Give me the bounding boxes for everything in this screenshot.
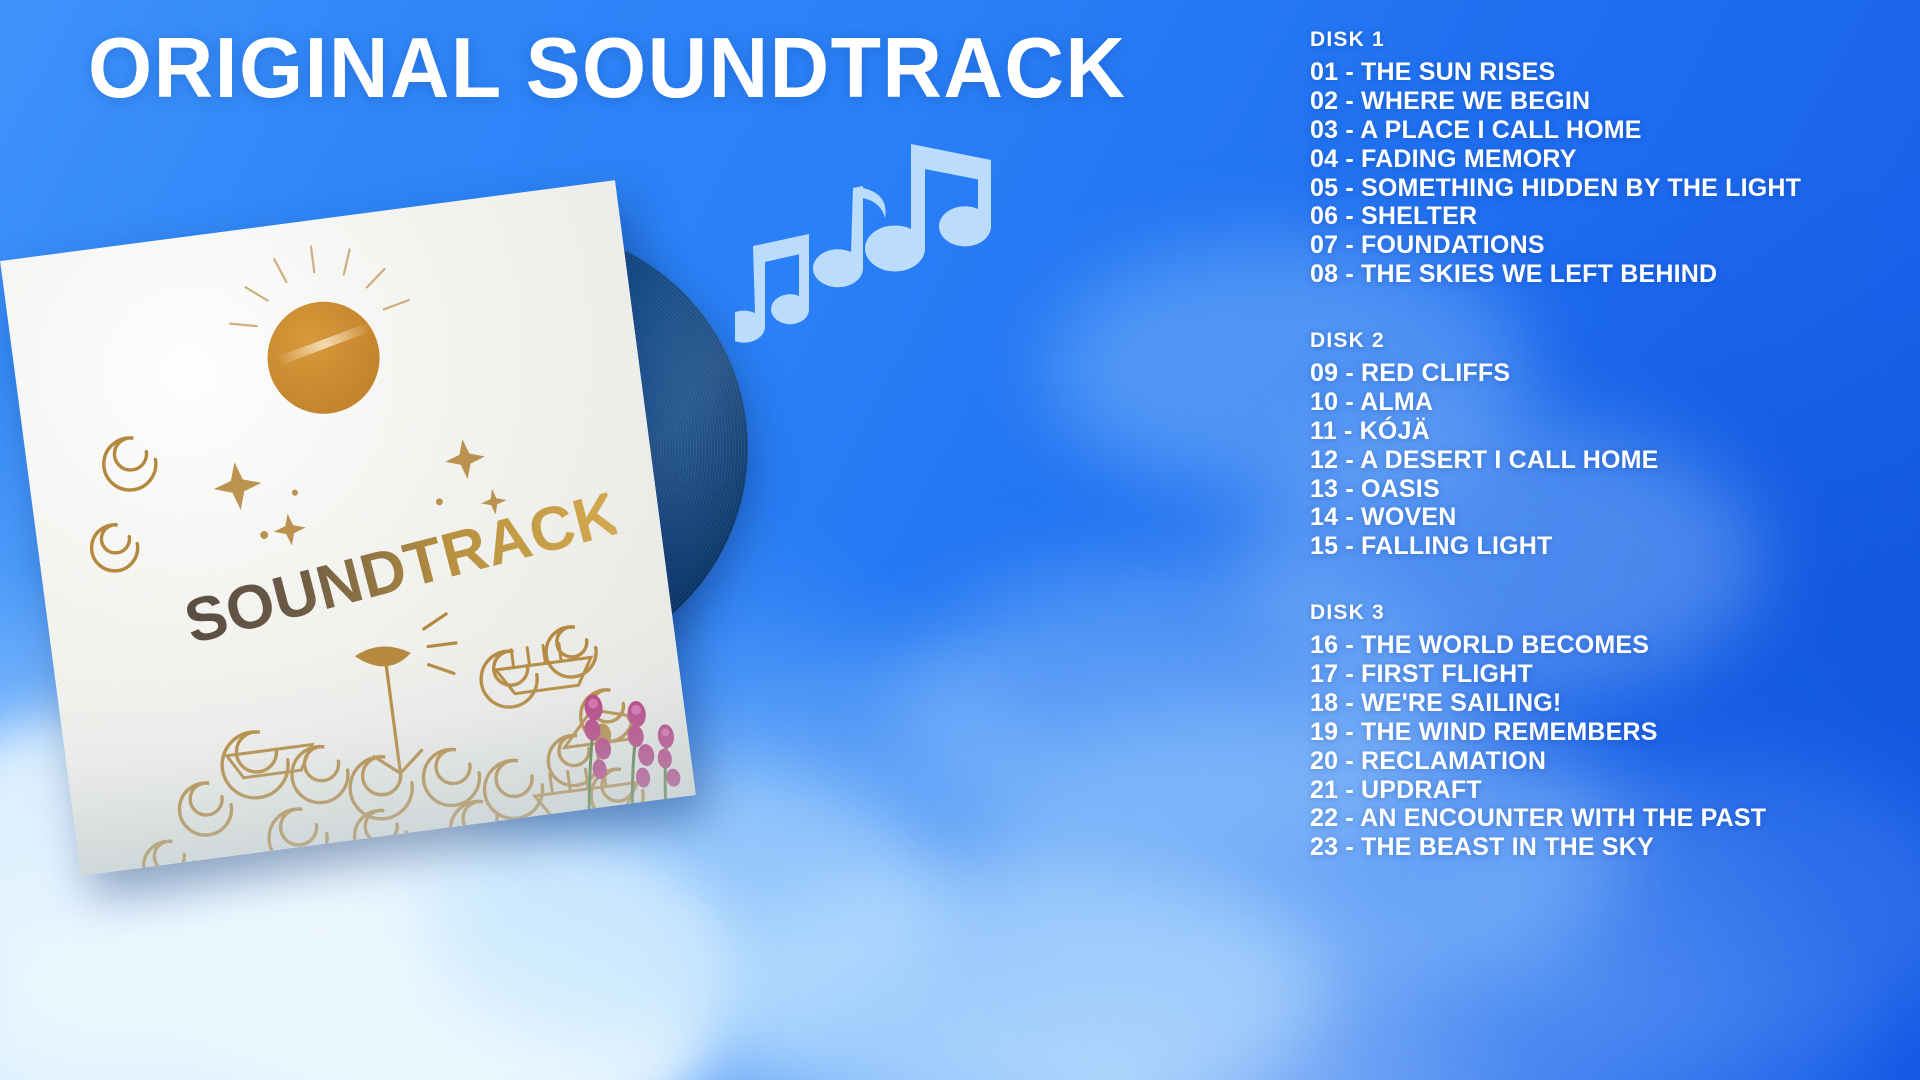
- track-item: 02 - WHERE WE BEGIN: [1310, 87, 1890, 116]
- track-item: 19 - THE WIND REMEMBERS: [1310, 718, 1890, 747]
- disk-block-1: DISK 1 01 - THE SUN RISES 02 - WHERE WE …: [1310, 28, 1890, 289]
- disk-heading: DISK 2: [1310, 329, 1890, 353]
- track-item: 22 - AN ENCOUNTER WITH THE PAST: [1310, 804, 1890, 833]
- album-artwork: DIGITAL SOUNDTRACK: [8, 150, 768, 890]
- poster-stage: ORIGINAL SOUNDTRACK: [0, 0, 1920, 1080]
- track-item: 06 - SHELTER: [1310, 202, 1890, 231]
- track-item: 09 - RED CLIFFS: [1310, 359, 1890, 388]
- track-item: 08 - THE SKIES WE LEFT BEHIND: [1310, 260, 1890, 289]
- track-item: 03 - A PLACE I CALL HOME: [1310, 116, 1890, 145]
- track-item: 05 - SOMETHING HIDDEN BY THE LIGHT: [1310, 174, 1890, 203]
- disk-block-3: DISK 3 16 - THE WORLD BECOMES 17 - FIRST…: [1310, 601, 1890, 862]
- spacer: [1310, 289, 1890, 329]
- music-notes-icon: [735, 130, 1035, 380]
- track-item: 17 - FIRST FLIGHT: [1310, 660, 1890, 689]
- disk-heading: DISK 3: [1310, 601, 1890, 625]
- track-item: 16 - THE WORLD BECOMES: [1310, 631, 1890, 660]
- track-item: 14 - WOVEN: [1310, 503, 1890, 532]
- disk-block-2: DISK 2 09 - RED CLIFFS 10 - ALMA 11 - KÓ…: [1310, 329, 1890, 561]
- track-item: 10 - ALMA: [1310, 388, 1890, 417]
- track-item: 23 - THE BEAST IN THE SKY: [1310, 833, 1890, 862]
- spacer: [1310, 561, 1890, 601]
- track-item: 12 - A DESERT I CALL HOME: [1310, 446, 1890, 475]
- track-item: 13 - OASIS: [1310, 475, 1890, 504]
- track-item: 07 - FOUNDATIONS: [1310, 231, 1890, 260]
- track-item: 15 - FALLING LIGHT: [1310, 532, 1890, 561]
- track-item: 04 - FADING MEMORY: [1310, 145, 1890, 174]
- track-item: 01 - THE SUN RISES: [1310, 58, 1890, 87]
- tracklist: DISK 1 01 - THE SUN RISES 02 - WHERE WE …: [1310, 28, 1890, 862]
- disk-heading: DISK 1: [1310, 28, 1890, 52]
- track-item: 21 - UPDRAFT: [1310, 776, 1890, 805]
- page-title: ORIGINAL SOUNDTRACK: [88, 24, 1126, 113]
- track-item: 20 - RECLAMATION: [1310, 747, 1890, 776]
- track-item: 11 - KÓJÄ: [1310, 417, 1890, 446]
- track-item: 18 - WE'RE SAILING!: [1310, 689, 1890, 718]
- album-sleeve: DIGITAL SOUNDTRACK: [0, 180, 696, 876]
